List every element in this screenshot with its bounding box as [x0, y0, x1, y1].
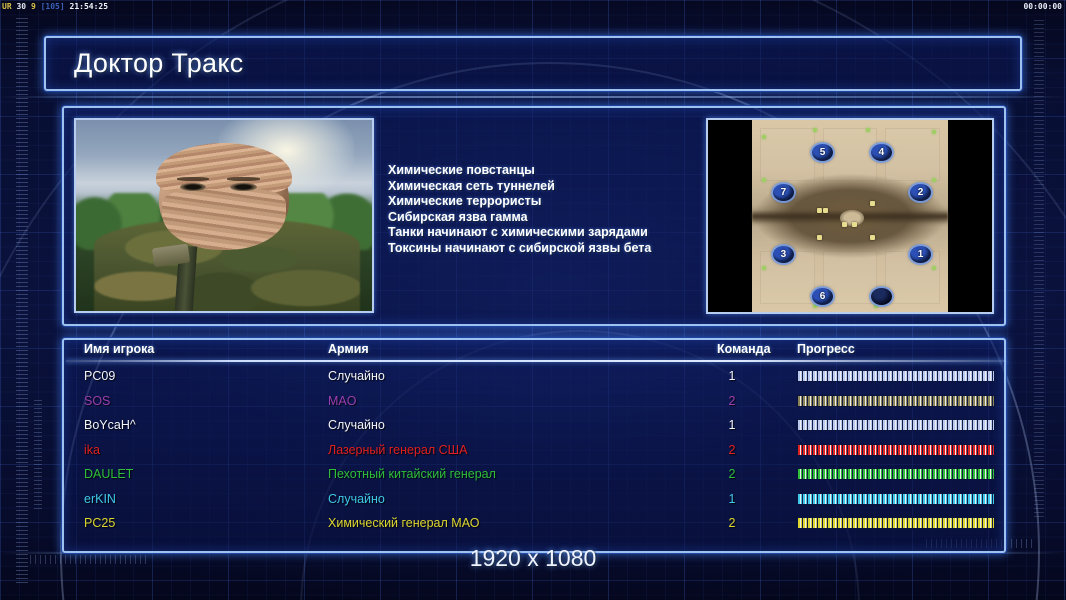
map-resource	[842, 222, 847, 227]
progress-fill	[798, 494, 994, 504]
player-name: erKIN	[84, 487, 116, 512]
status-value-1: 30	[16, 2, 26, 11]
header-divider	[66, 360, 1006, 362]
player-army: MAO	[328, 389, 356, 414]
column-header-team: Команда	[717, 342, 771, 356]
ruler-left-secondary	[34, 400, 42, 510]
general-description: Химические повстанцы Химическая сеть тун…	[388, 163, 738, 256]
player-army: Химический генерал МАО	[328, 511, 479, 536]
column-header-progress: Прогресс	[797, 342, 855, 356]
progress-fill	[798, 420, 994, 430]
background-rule-top	[0, 96, 1066, 98]
map-start-position-1[interactable]: 1	[910, 246, 931, 263]
table-row[interactable]: erKINСлучайно1	[64, 487, 1004, 512]
player-army: Пехотный китайский генерал	[328, 462, 496, 487]
header-panel: Доктор Тракс	[44, 36, 1022, 91]
table-row[interactable]: DAULETПехотный китайский генерал2	[64, 462, 1004, 487]
map-prop	[932, 130, 936, 134]
player-progress-bar	[797, 493, 995, 505]
column-header-army: Армия	[328, 342, 369, 356]
player-team: 1	[717, 487, 747, 512]
map-start-position-4[interactable]: 4	[871, 144, 892, 161]
progress-fill	[798, 371, 994, 381]
table-row[interactable]: ikaЛазерный генерал США2	[64, 438, 1004, 463]
map-resource	[817, 235, 822, 240]
map-prop	[932, 178, 936, 182]
player-name: SOS	[84, 389, 110, 414]
map-prop	[762, 178, 766, 182]
status-bar-left: UR 30 9 [105] 21:54:25	[2, 0, 108, 13]
game-lobby-screen: UR 30 9 [105] 21:54:25 00:00:00 Доктор Т…	[0, 0, 1066, 600]
player-progress-bar	[797, 444, 995, 456]
player-name: ika	[84, 438, 100, 463]
map-resource	[870, 235, 875, 240]
player-army: Случайно	[328, 413, 385, 438]
map-prop	[813, 304, 817, 308]
player-progress-bar	[797, 395, 995, 407]
map-resource	[817, 208, 822, 213]
status-tag: UR	[2, 2, 12, 11]
player-list-panel: Имя игрока Армия Команда Прогресс PC09Сл…	[62, 338, 1006, 553]
map-resource	[852, 222, 857, 227]
player-list-header: Имя игрока Армия Команда Прогресс	[64, 340, 1004, 359]
map-start-position-3[interactable]: 3	[773, 246, 794, 263]
resolution-label: 1920 x 1080	[0, 545, 1066, 572]
description-line: Токсины начинают с сибирской язвы бета	[388, 241, 738, 257]
player-team: 2	[717, 462, 747, 487]
map-prop	[874, 304, 878, 308]
description-line: Химические повстанцы	[388, 163, 738, 179]
table-row[interactable]: BoYcaH^Случайно1	[64, 413, 1004, 438]
player-name: PC09	[84, 364, 115, 389]
portrait-brow-right	[227, 177, 260, 181]
progress-fill	[798, 469, 994, 479]
map-prop	[762, 266, 766, 270]
player-team: 2	[717, 438, 747, 463]
player-team: 2	[717, 389, 747, 414]
progress-fill	[798, 396, 994, 406]
player-name: BoYcaH^	[84, 413, 136, 438]
map-start-position-empty[interactable]	[871, 288, 892, 305]
player-progress-bar	[797, 517, 995, 529]
player-progress-bar	[797, 419, 995, 431]
player-team: 1	[717, 364, 747, 389]
page-title: Доктор Тракс	[74, 47, 244, 78]
player-name: DAULET	[84, 462, 133, 487]
table-row[interactable]: PC25Химический генерал МАО2	[64, 511, 1004, 536]
description-line: Химические террористы	[388, 194, 738, 210]
player-name: PC25	[84, 511, 115, 536]
player-progress-bar	[797, 468, 995, 480]
table-row[interactable]: PC09Случайно1	[64, 364, 1004, 389]
game-clock: 00:00:00	[1023, 0, 1062, 13]
progress-fill	[798, 518, 994, 528]
info-panel: Химические повстанцы Химическая сеть тун…	[62, 106, 1006, 326]
status-bar: UR 30 9 [105] 21:54:25 00:00:00	[0, 0, 1066, 13]
player-progress-bar	[797, 370, 995, 382]
player-rows: PC09Случайно1SOSMAO2BoYcaH^Случайно1ikaЛ…	[64, 364, 1004, 536]
map-start-position-7[interactable]: 7	[773, 184, 794, 201]
map-prop	[813, 128, 817, 132]
player-team: 1	[717, 413, 747, 438]
description-line: Химическая сеть туннелей	[388, 179, 738, 195]
portrait-brow-left	[177, 177, 210, 181]
table-row[interactable]: SOSMAO2	[64, 389, 1004, 414]
ruler-left	[16, 18, 28, 584]
description-line: Сибирская язва гамма	[388, 210, 738, 226]
description-line: Танки начинают с химическими зарядами	[388, 225, 738, 241]
status-time: 21:54:25	[70, 2, 109, 11]
status-value-2: 9	[31, 2, 36, 11]
map-resource	[870, 201, 875, 206]
ruler-right	[1034, 20, 1044, 520]
player-team: 2	[717, 511, 747, 536]
player-army: Случайно	[328, 487, 385, 512]
map-preview[interactable]: 5472316	[752, 120, 948, 312]
status-bracket-value: [105]	[41, 2, 65, 11]
map-resource	[823, 208, 828, 213]
map-tile	[885, 128, 940, 182]
column-header-name: Имя игрока	[84, 342, 154, 356]
map-start-position-2[interactable]: 2	[910, 184, 931, 201]
progress-fill	[798, 445, 994, 455]
map-tile	[760, 128, 815, 182]
general-portrait	[74, 118, 374, 313]
map-prop	[866, 128, 870, 132]
player-army: Лазерный генерал США	[328, 438, 467, 463]
player-army: Случайно	[328, 364, 385, 389]
map-preview-frame[interactable]: 5472316	[706, 118, 994, 314]
